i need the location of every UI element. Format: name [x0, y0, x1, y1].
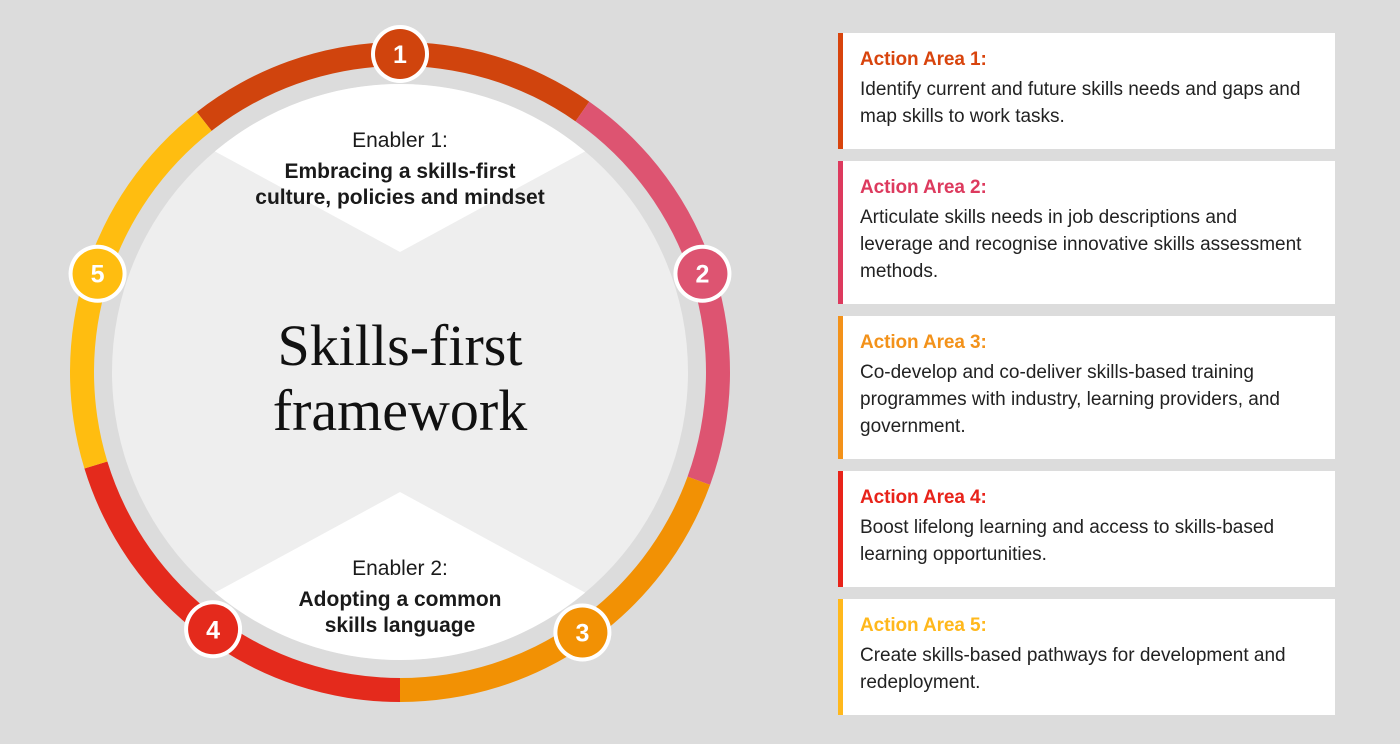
- badge-number-3: 3: [575, 619, 589, 647]
- enabler-1-line2: culture, policies and mindset: [255, 186, 544, 209]
- action-area-card[interactable]: Action Area 1: Identify current and futu…: [838, 33, 1335, 149]
- card-accent-bar: [838, 599, 843, 715]
- action-area-title: Action Area 5:: [860, 615, 1313, 637]
- action-area-body: Articulate skills needs in job descripti…: [860, 205, 1313, 286]
- action-area-body: Boost lifelong learning and access to sk…: [860, 515, 1313, 569]
- action-area-title: Action Area 4:: [860, 487, 1313, 509]
- badge-number-1: 1: [393, 41, 407, 69]
- card-accent-bar: [838, 33, 843, 149]
- enabler-2-line1: Adopting a common: [299, 588, 502, 611]
- enabler-1-line1: Embracing a skills-first: [284, 160, 515, 183]
- badge-number-2: 2: [695, 261, 709, 289]
- skills-first-framework-diagram: Skills-first framework Enabler 1: Embrac…: [0, 0, 800, 744]
- badge-number-4: 4: [206, 616, 220, 644]
- action-area-body: Co-develop and co-deliver skills-based t…: [860, 360, 1313, 441]
- center-title-line1: Skills-first: [278, 313, 523, 378]
- card-accent-bar: [838, 471, 843, 587]
- action-area-card[interactable]: Action Area 3: Co-develop and co-deliver…: [838, 316, 1335, 459]
- action-area-card[interactable]: Action Area 2: Articulate skills needs i…: [838, 161, 1335, 304]
- framework-circle-graphic: Skills-first framework Enabler 1: Embrac…: [0, 0, 800, 744]
- center-title-line2: framework: [273, 378, 527, 443]
- action-area-body: Create skills-based pathways for develop…: [860, 643, 1313, 697]
- action-area-card[interactable]: Action Area 5: Create skills-based pathw…: [838, 599, 1335, 715]
- action-area-body: Identify current and future skills needs…: [860, 77, 1313, 131]
- enabler-2-line2: skills language: [325, 614, 476, 637]
- action-area-card[interactable]: Action Area 4: Boost lifelong learning a…: [838, 471, 1335, 587]
- action-area-title: Action Area 2:: [860, 177, 1313, 199]
- action-area-title: Action Area 1:: [860, 49, 1313, 71]
- action-area-title: Action Area 3:: [860, 332, 1313, 354]
- card-accent-bar: [838, 161, 843, 304]
- card-accent-bar: [838, 316, 843, 459]
- enabler-2-heading: Enabler 2:: [352, 557, 448, 580]
- enabler-1-heading: Enabler 1:: [352, 129, 448, 152]
- badge-number-5: 5: [91, 261, 105, 289]
- action-areas-list: Action Area 1: Identify current and futu…: [838, 33, 1335, 727]
